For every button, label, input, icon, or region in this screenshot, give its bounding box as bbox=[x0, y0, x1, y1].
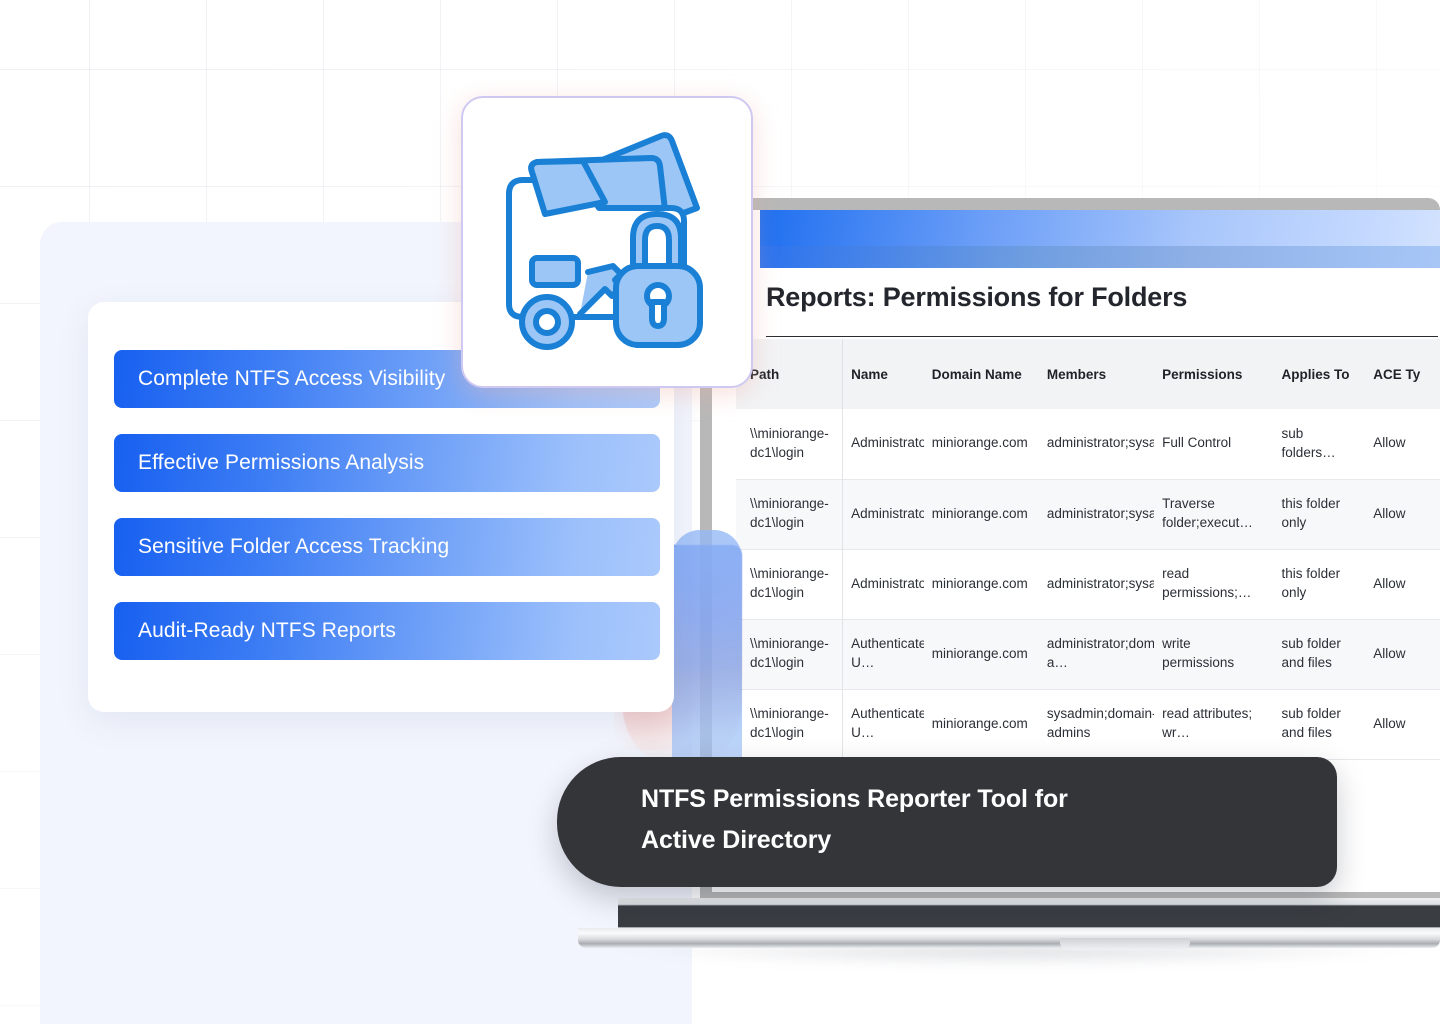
cell-ace-type: Allow bbox=[1365, 619, 1440, 689]
permissions-table: Path Name Domain Name Members Permission… bbox=[736, 339, 1440, 760]
cell-path: \\miniorange-dc1\login bbox=[736, 479, 843, 549]
cell-path: \\miniorange-dc1\login bbox=[736, 409, 843, 479]
table-header: Path Name Domain Name Members Permission… bbox=[736, 339, 1440, 409]
cell-domain-name: miniorange.com bbox=[924, 479, 1039, 549]
caption-line-2: Active Directory bbox=[641, 820, 1261, 861]
cell-applies-to: this folder only bbox=[1274, 479, 1366, 549]
cell-members: administrator;sysadmin;… bbox=[1039, 549, 1154, 619]
cell-name: Administrator bbox=[843, 549, 924, 619]
cell-members: administrator;sysadmin;… bbox=[1039, 479, 1154, 549]
caption-line-1: NTFS Permissions Reporter Tool for bbox=[641, 785, 1068, 813]
cell-permissions: Traverse folder;execut… bbox=[1154, 479, 1273, 549]
column-header-applies-to[interactable]: Applies To bbox=[1274, 339, 1366, 409]
icon-card bbox=[461, 96, 753, 388]
cell-permissions: write permissions bbox=[1154, 619, 1273, 689]
cell-name: Authenticated U… bbox=[843, 619, 924, 689]
cell-domain-name: miniorange.com bbox=[924, 619, 1039, 689]
folder-key-lock-icon bbox=[485, 116, 735, 366]
column-header-permissions[interactable]: Permissions bbox=[1154, 339, 1273, 409]
feature-item-sensitive-folder-access-tracking[interactable]: Sensitive Folder Access Tracking bbox=[114, 518, 660, 576]
column-header-members[interactable]: Members bbox=[1039, 339, 1154, 409]
cell-domain-name: miniorange.com bbox=[924, 409, 1039, 479]
cell-permissions: Full Control bbox=[1154, 409, 1273, 479]
title-underline bbox=[766, 336, 1438, 337]
cell-path: \\miniorange-dc1\login bbox=[736, 619, 843, 689]
cell-permissions: read permissions;… bbox=[1154, 549, 1273, 619]
cell-ace-type: Allow bbox=[1365, 409, 1440, 479]
cell-members: administrator;domain-a… bbox=[1039, 619, 1154, 689]
table-row[interactable]: \\miniorange-dc1\login Administrator min… bbox=[736, 479, 1440, 549]
column-header-name[interactable]: Name bbox=[843, 339, 924, 409]
cell-path: \\miniorange-dc1\login bbox=[736, 549, 843, 619]
page-title: Reports: Permissions for Folders bbox=[766, 282, 1187, 313]
cell-ace-type: Allow bbox=[1365, 549, 1440, 619]
cell-applies-to: sub folder and files bbox=[1274, 689, 1366, 759]
cell-applies-to: sub folder and files bbox=[1274, 619, 1366, 689]
cell-path: \\miniorange-dc1\login bbox=[736, 689, 843, 759]
decorative-gradient-bar bbox=[672, 530, 742, 778]
cell-name: Authenticated U… bbox=[843, 689, 924, 759]
caption-text: NTFS Permissions Reporter Tool for Activ… bbox=[641, 779, 1261, 860]
table-body: \\miniorange-dc1\login Administrator min… bbox=[736, 409, 1440, 759]
cell-ace-type: Allow bbox=[1365, 689, 1440, 759]
column-header-ace-type[interactable]: ACE Ty bbox=[1365, 339, 1440, 409]
cell-applies-to: sub folders… bbox=[1274, 409, 1366, 479]
feature-list: Complete NTFS Access Visibility Effectiv… bbox=[114, 350, 660, 660]
promo-graphic: Reports: Permissions for Folders Path Na… bbox=[0, 0, 1440, 1024]
laptop-base bbox=[578, 928, 1440, 948]
cell-name: Administrator bbox=[843, 409, 924, 479]
browser-tabstrip bbox=[760, 210, 1440, 246]
cell-members: sysadmin;domain-admins bbox=[1039, 689, 1154, 759]
feature-item-effective-permissions-analysis[interactable]: Effective Permissions Analysis bbox=[114, 434, 660, 492]
table-header-row: Path Name Domain Name Members Permission… bbox=[736, 339, 1440, 409]
laptop-notch bbox=[1060, 938, 1190, 950]
table-row[interactable]: \\miniorange-dc1\login Administrator min… bbox=[736, 549, 1440, 619]
cell-members: administrator;sysadmin;… bbox=[1039, 409, 1154, 479]
column-header-domain-name[interactable]: Domain Name bbox=[924, 339, 1039, 409]
cell-name: Administrator bbox=[843, 479, 924, 549]
laptop-shadow bbox=[600, 946, 1430, 968]
cell-domain-name: miniorange.com bbox=[924, 689, 1039, 759]
table-row[interactable]: \\miniorange-dc1\login Authenticated U… … bbox=[736, 689, 1440, 759]
feature-item-audit-ready-ntfs-reports[interactable]: Audit-Ready NTFS Reports bbox=[114, 602, 660, 660]
table-row[interactable]: \\miniorange-dc1\login Administrator min… bbox=[736, 409, 1440, 479]
cell-permissions: read attributes; wr… bbox=[1154, 689, 1273, 759]
cell-ace-type: Allow bbox=[1365, 479, 1440, 549]
browser-addressbar bbox=[760, 246, 1440, 268]
cell-domain-name: miniorange.com bbox=[924, 549, 1039, 619]
cell-applies-to: this folder only bbox=[1274, 549, 1366, 619]
table-row[interactable]: \\miniorange-dc1\login Authenticated U… … bbox=[736, 619, 1440, 689]
